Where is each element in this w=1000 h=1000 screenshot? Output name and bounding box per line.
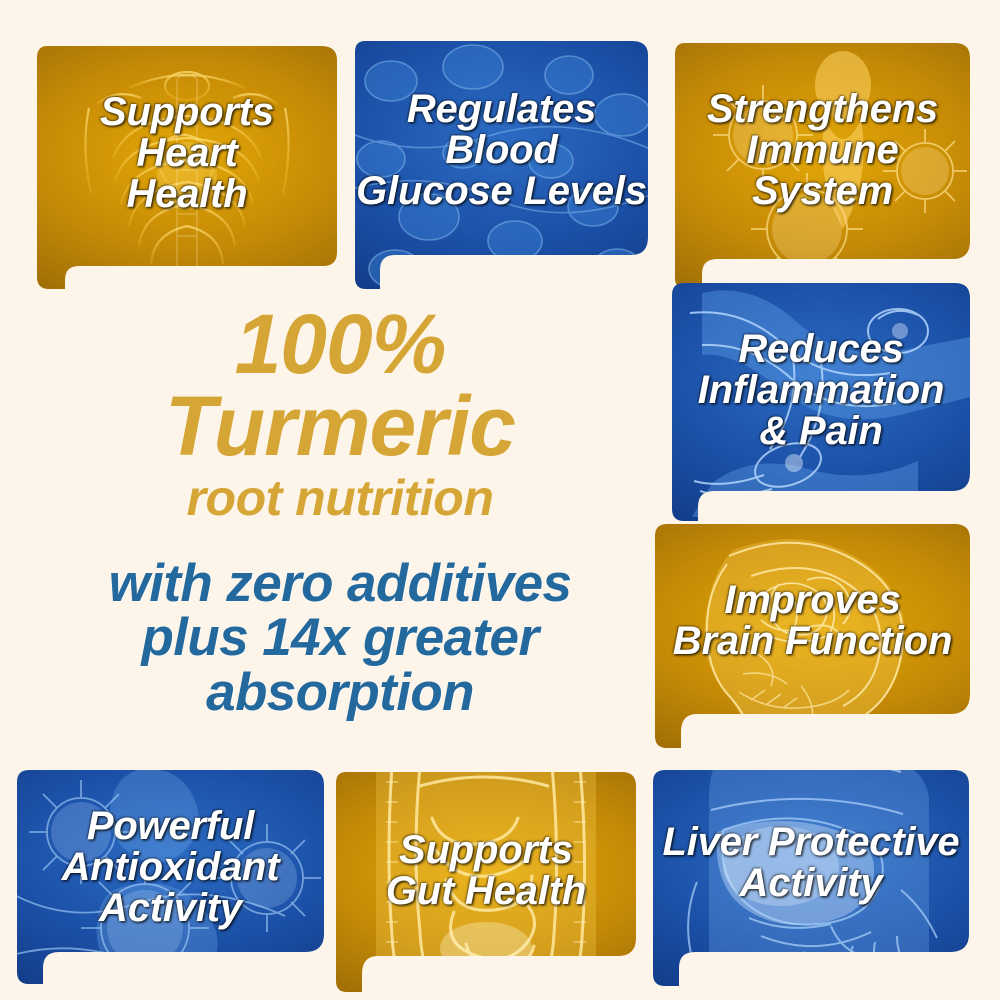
headline-subtitle: root nutrition bbox=[60, 473, 620, 523]
headline-percent: 100% bbox=[60, 305, 620, 385]
benefit-card-label: Improves Brain Function bbox=[655, 580, 970, 662]
benefit-card-brain[interactable]: Improves Brain Function bbox=[655, 524, 970, 748]
benefit-card-label: Reduces Inflammation & Pain bbox=[672, 329, 970, 451]
headline-block: 100% Turmeric root nutrition with zero a… bbox=[60, 305, 620, 720]
benefit-card-label: Regulates Blood Glucose Levels bbox=[355, 89, 648, 211]
claim-line-1: with zero additives bbox=[60, 557, 620, 612]
benefit-card-label: Liver Protective Activity bbox=[653, 822, 969, 904]
benefit-card-antioxidant[interactable]: Powerful Antioxidant Activity bbox=[17, 770, 324, 984]
benefit-card-label: Supports Heart Health bbox=[37, 92, 337, 214]
benefit-card-blood-glucose[interactable]: Regulates Blood Glucose Levels bbox=[355, 41, 648, 289]
benefit-card-gut[interactable]: Supports Gut Health bbox=[336, 772, 636, 992]
benefit-card-liver[interactable]: Liver Protective Activity bbox=[653, 770, 969, 986]
headline-product: Turmeric bbox=[60, 387, 620, 467]
benefit-card-label: Powerful Antioxidant Activity bbox=[17, 806, 324, 928]
benefit-card-immune[interactable]: Strengthens Immune System bbox=[675, 43, 970, 289]
claim-line-3: absorption bbox=[60, 666, 620, 721]
benefit-card-label: Strengthens Immune System bbox=[675, 89, 970, 211]
infographic-canvas: Supports Heart Health bbox=[0, 0, 1000, 1000]
benefit-card-heart[interactable]: Supports Heart Health bbox=[37, 46, 337, 289]
claim-line-2: plus 14x greater bbox=[60, 611, 620, 666]
benefit-card-label: Supports Gut Health bbox=[336, 830, 636, 912]
benefit-card-inflammation[interactable]: Reduces Inflammation & Pain bbox=[672, 283, 970, 521]
